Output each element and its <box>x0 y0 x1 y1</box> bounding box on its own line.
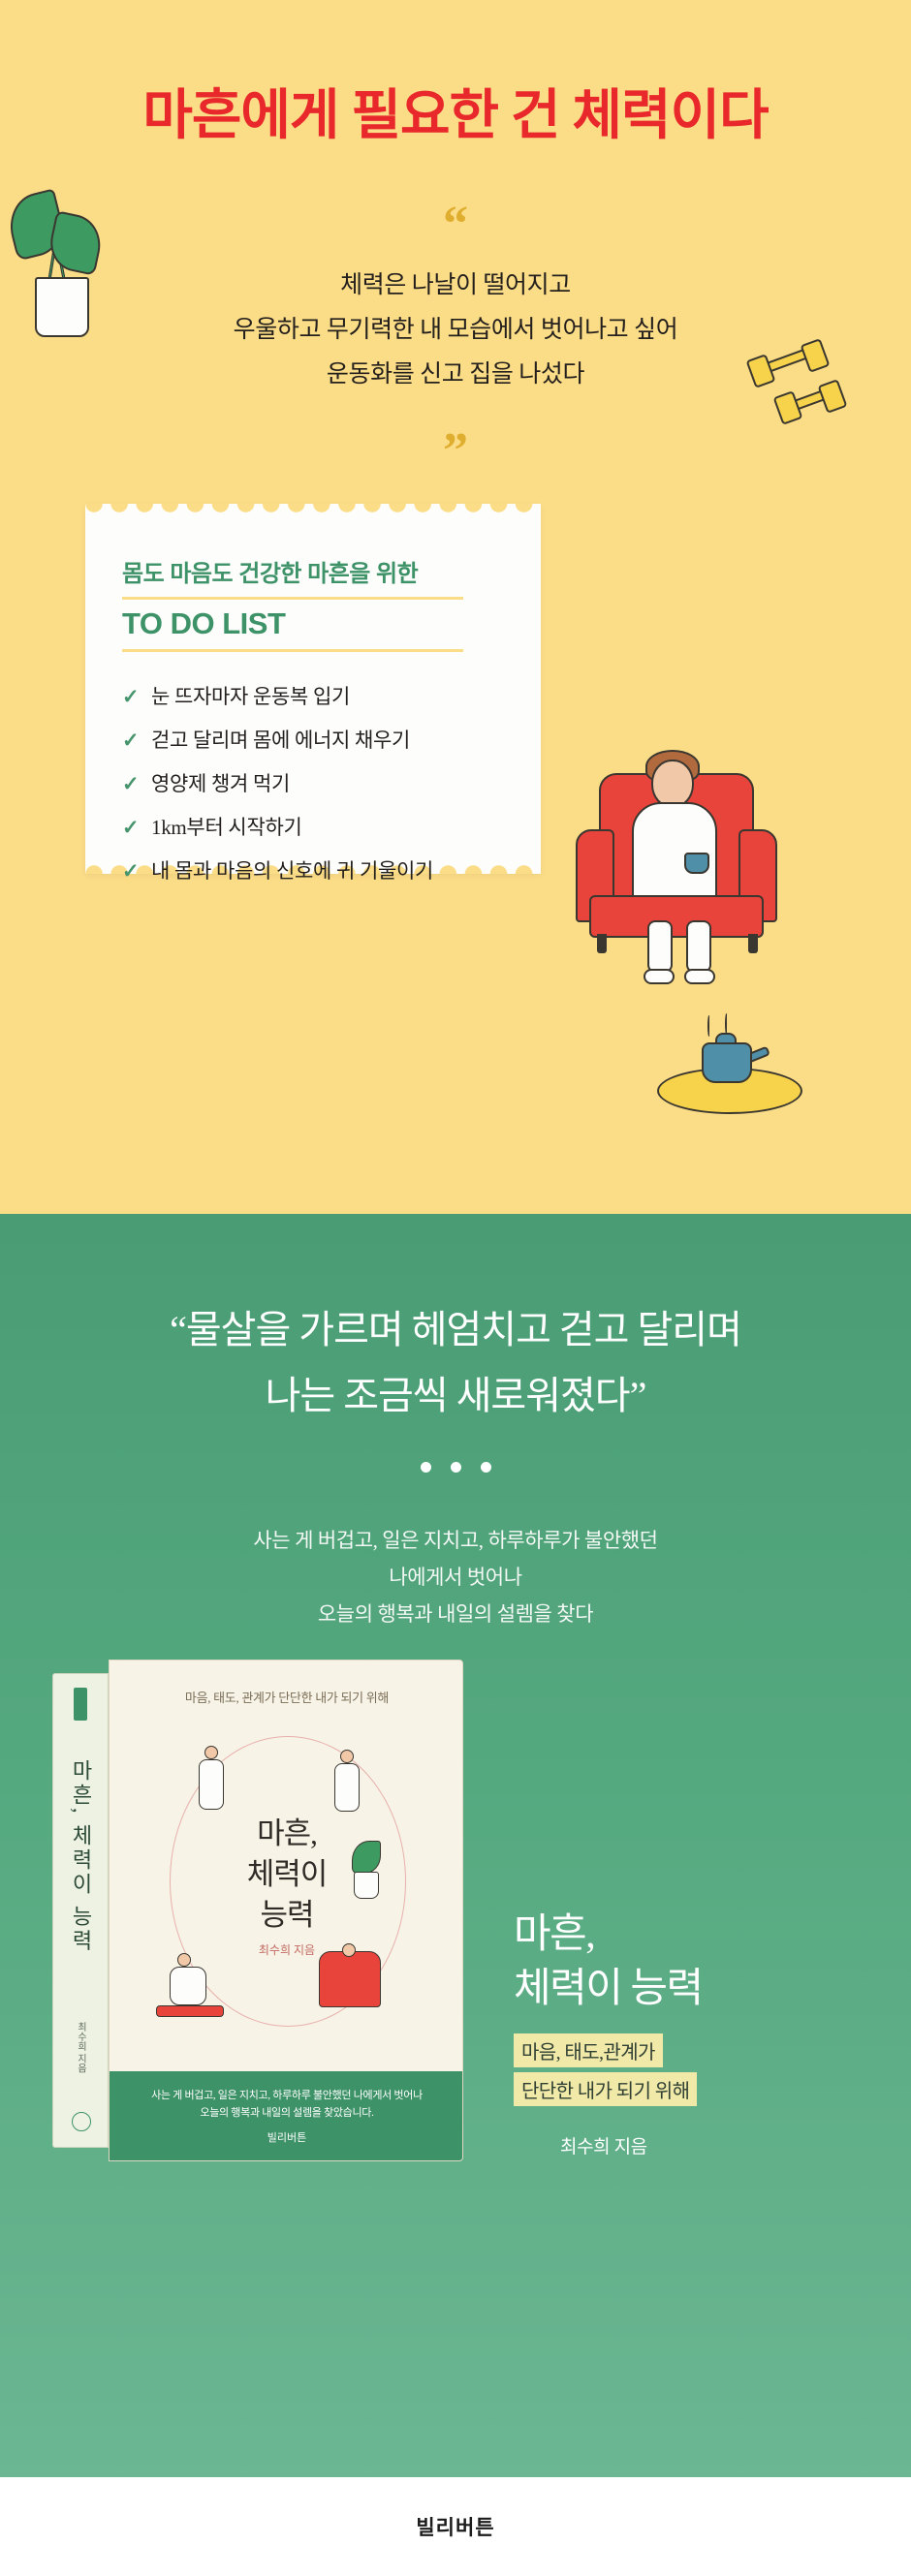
list-item: ✓ 걷고 달리며 몸에 에너지 채우기 <box>122 725 510 754</box>
dumbbell-weight <box>773 390 803 425</box>
plant-pot <box>35 277 89 337</box>
check-icon: ✓ <box>122 685 151 709</box>
dumbbell-weight <box>801 338 831 373</box>
cover-band-publisher: 빌리버튼 <box>267 2129 306 2145</box>
quote-close-mark: ” <box>0 426 911 477</box>
book-title-line-2: 체력이 능력 <box>514 1962 703 2016</box>
person-shoe <box>684 969 715 984</box>
book-front-cover: 마음, 태도, 관계가 단단한 내가 되기 위해 마흔, 체력이 능력 <box>109 1660 463 2161</box>
feature-quote: “물살을 가르며 헤엄치고 걷고 달리며 나는 조금씩 새로워졌다” <box>0 1297 911 1429</box>
book-title-line-1: 마흔, <box>514 1908 703 1962</box>
list-item: ✓ 영양제 챙겨 먹기 <box>122 768 510 797</box>
book-tagline-1: 마음, 태도,관계가 <box>514 2033 663 2067</box>
person-head <box>651 760 694 808</box>
todo-card-content: 몸도 마음도 건강한 마흔을 위한 TO DO LIST ✓ 눈 뜨자마자 운동… <box>122 554 510 899</box>
todo-subtitle: 몸도 마음도 건강한 마흔을 위한 <box>122 554 510 588</box>
quote-open-mark: “ <box>0 200 911 250</box>
feature-subtext: 사는 게 버겁고, 일은 지치고, 하루하루가 불안했던 나에게서 벗어나 오늘… <box>0 1522 911 1632</box>
check-icon: ✓ <box>122 772 151 796</box>
dumbbells-icon <box>744 341 861 424</box>
feature-subtext-line-2: 나에게서 벗어나 <box>0 1559 911 1596</box>
book-title-display: 마흔, 체력이 능력 <box>514 1908 703 2016</box>
steam-line <box>725 1013 728 1035</box>
cover-band-line-1: 사는 게 버겁고, 일은 지치고, 하루하루 불안했던 나에게서 벗어나 <box>151 2087 423 2104</box>
check-icon: ✓ <box>122 859 151 884</box>
feature-quote-line-1: “물살을 가르며 헤엄치고 걷고 달리며 <box>0 1297 911 1363</box>
list-item-label: 내 몸과 마음의 신호에 귀 기울이기 <box>151 855 433 885</box>
person-leg <box>686 920 711 973</box>
cover-title-line-3: 능력 <box>110 1895 463 1936</box>
todo-items: ✓ 눈 뜨자마자 운동복 입기 ✓ 걷고 달리며 몸에 에너지 채우기 ✓ 영양… <box>122 681 510 885</box>
person-shoe <box>644 969 675 984</box>
feature-quote-line-2: 나는 조금씩 새로워졌다” <box>0 1363 911 1429</box>
cover-figure-body <box>170 1967 206 2005</box>
divider-dot <box>421 1462 431 1473</box>
book-tagline-2: 단단한 내가 되기 위해 <box>514 2072 697 2106</box>
todo-list-card: 몸도 마음도 건강한 마흔을 위한 TO DO LIST ✓ 눈 뜨자마자 운동… <box>85 504 541 874</box>
footer-section: 빌리버튼 <box>0 2477 911 2576</box>
feature-subtext-line-3: 오늘의 행복과 내일의 설렘을 찾다 <box>0 1596 911 1632</box>
dumbbell-weight <box>746 354 776 388</box>
monstera-plant-icon <box>8 192 114 337</box>
person-leg <box>647 920 673 973</box>
cover-band-line-2: 오늘의 행복과 내일의 설렘을 찾았습니다. <box>200 2104 373 2122</box>
book-author: 최수희 지음 <box>560 2132 647 2158</box>
yellow-hero-section: 마흔에게 필요한 건 체력이다 “ 체력은 나날이 떨어지고 우울하고 무기력한… <box>0 0 911 1214</box>
book-cover-mockup: 마흔, 체력이 능력 최수희 지음 마음, 태도, 관계가 단단한 내가 되기 … <box>52 1660 469 2163</box>
list-item: ✓ 1km부터 시작하기 <box>122 812 510 841</box>
list-item-label: 1km부터 시작하기 <box>151 812 302 841</box>
todo-divider-top <box>122 597 463 600</box>
publisher-name: 빌리버튼 <box>0 2512 911 2541</box>
tea-cup-icon <box>684 853 709 874</box>
armchair-leg <box>748 934 758 953</box>
book-spine: 마흔, 체력이 능력 최수희 지음 <box>52 1673 109 2148</box>
list-item: ✓ 내 몸과 마음의 신호에 귀 기울이기 <box>122 855 510 885</box>
cover-author: 최수희 지음 <box>110 1941 463 1958</box>
page-title: 마흔에게 필요한 건 체력이다 <box>0 72 911 150</box>
steam-line <box>707 1015 710 1037</box>
promo-page: 마흔에게 필요한 건 체력이다 “ 체력은 나날이 떨어지고 우울하고 무기력한… <box>0 0 911 2576</box>
cover-title-line-2: 체력이 <box>110 1854 463 1895</box>
hero-quote-line-1: 체력은 나날이 떨어지고 <box>0 264 911 308</box>
cover-top-band-text: 마음, 태도, 관계가 단단한 내가 되기 위해 <box>110 1688 463 1706</box>
divider-dot <box>481 1462 491 1473</box>
dumbbell-weight <box>818 379 848 414</box>
cover-yoga-mat <box>156 2005 224 2017</box>
armchair-seat <box>589 895 764 938</box>
monstera-leaf <box>46 210 107 276</box>
cover-title: 마흔, 체력이 능력 <box>110 1814 463 1936</box>
todo-divider-bottom <box>122 649 463 652</box>
cover-figure-body <box>334 1763 360 1812</box>
cover-bottom-band: 사는 게 버겁고, 일은 지치고, 하루하루 불안했던 나에게서 벗어나 오늘의… <box>110 2071 463 2160</box>
list-item-label: 걷고 달리며 몸에 에너지 채우기 <box>151 725 410 754</box>
green-quote-section: “물살을 가르며 헤엄치고 걷고 달리며 나는 조금씩 새로워졌다” 사는 게 … <box>0 1214 911 2477</box>
check-icon: ✓ <box>122 816 151 840</box>
teapot-body <box>702 1042 752 1083</box>
spine-publisher-logo-icon <box>72 2112 91 2131</box>
woman-in-red-armchair-illustration <box>543 705 833 996</box>
spine-title: 마흔, 체력이 능력 <box>65 1759 96 1954</box>
teapot-lid <box>715 1033 737 1044</box>
teapot-on-rug-illustration <box>647 1013 812 1120</box>
list-item-label: 영양제 챙겨 먹기 <box>151 768 290 797</box>
list-item: ✓ 눈 뜨자마자 운동복 입기 <box>122 681 510 710</box>
spine-author: 최수희 지음 <box>74 2022 88 2073</box>
todo-title: TO DO LIST <box>122 606 510 641</box>
cover-armchair <box>319 1951 381 2007</box>
feature-subtext-line-1: 사는 게 버겁고, 일은 지치고, 하루하루가 불안했던 <box>0 1522 911 1559</box>
card-scallop-top-edge <box>85 504 541 517</box>
list-item-label: 눈 뜨자마자 운동복 입기 <box>151 681 350 710</box>
armchair-leg <box>597 934 607 953</box>
dot-divider <box>0 1462 911 1473</box>
spine-accent-mark <box>74 1688 87 1721</box>
cover-figure-head <box>340 1750 354 1763</box>
cover-figure-head <box>204 1746 218 1759</box>
divider-dot <box>451 1462 461 1473</box>
check-icon: ✓ <box>122 729 151 753</box>
cover-figure-body <box>199 1759 224 1810</box>
cover-title-line-1: 마흔, <box>110 1814 463 1854</box>
